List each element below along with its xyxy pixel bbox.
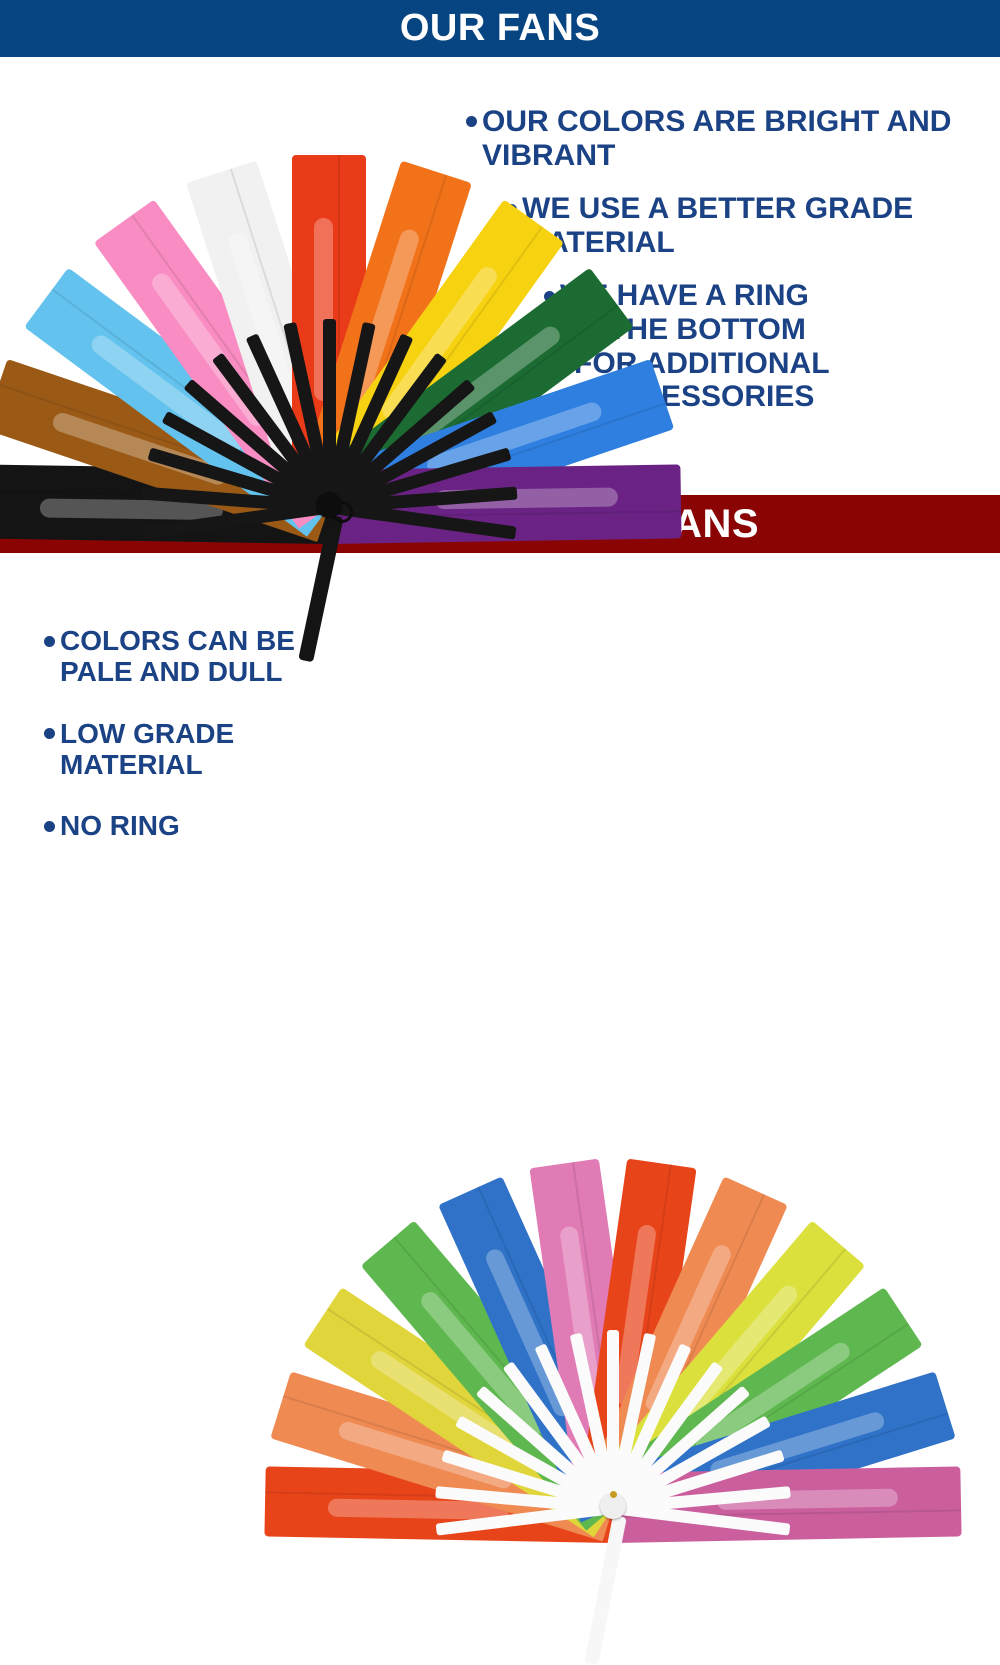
- list-item: OUR COLORS ARE BRIGHT AND VIBRANT: [466, 105, 986, 172]
- bullet-dot-icon: [44, 636, 55, 647]
- our-fans-banner-title: OUR FANS: [400, 7, 600, 50]
- our-fans-section: OUR COLORS ARE BRIGHT AND VIBRANT WE USE…: [0, 57, 1000, 495]
- bullet-dot-icon: [44, 728, 55, 739]
- bullet-line: PALE AND DULL: [44, 656, 374, 687]
- other-fans-section: COLORS CAN BE PALE AND DULL LOW GRADE MA…: [0, 553, 1000, 1000]
- bullet-line: NO RING: [44, 810, 374, 841]
- list-item: LOW GRADE MATERIAL: [44, 718, 374, 781]
- bullet-line: MATERIAL: [506, 226, 986, 260]
- list-item: NO RING: [44, 810, 374, 841]
- list-item: COLORS CAN BE PALE AND DULL: [44, 625, 374, 688]
- bullet-line: VIBRANT: [466, 139, 986, 173]
- bullet-line: LOW GRADE: [44, 718, 374, 749]
- bullet-dot-icon: [466, 116, 477, 127]
- bullet-line: OUR COLORS ARE BRIGHT AND: [466, 105, 986, 139]
- bullet-line: WE USE A BETTER GRADE: [506, 192, 986, 226]
- bullet-dot-icon: [44, 821, 55, 832]
- other-fan-image: [283, 1153, 943, 1508]
- bullet-line: MATERIAL: [44, 749, 374, 780]
- other-fans-bullet-list: COLORS CAN BE PALE AND DULL LOW GRADE MA…: [44, 625, 374, 872]
- bullet-line: COLORS CAN BE: [44, 625, 374, 656]
- fan-pivot: [316, 492, 342, 518]
- our-fans-banner: OUR FANS: [0, 0, 1000, 57]
- fan-pivot-screw: [610, 1491, 617, 1498]
